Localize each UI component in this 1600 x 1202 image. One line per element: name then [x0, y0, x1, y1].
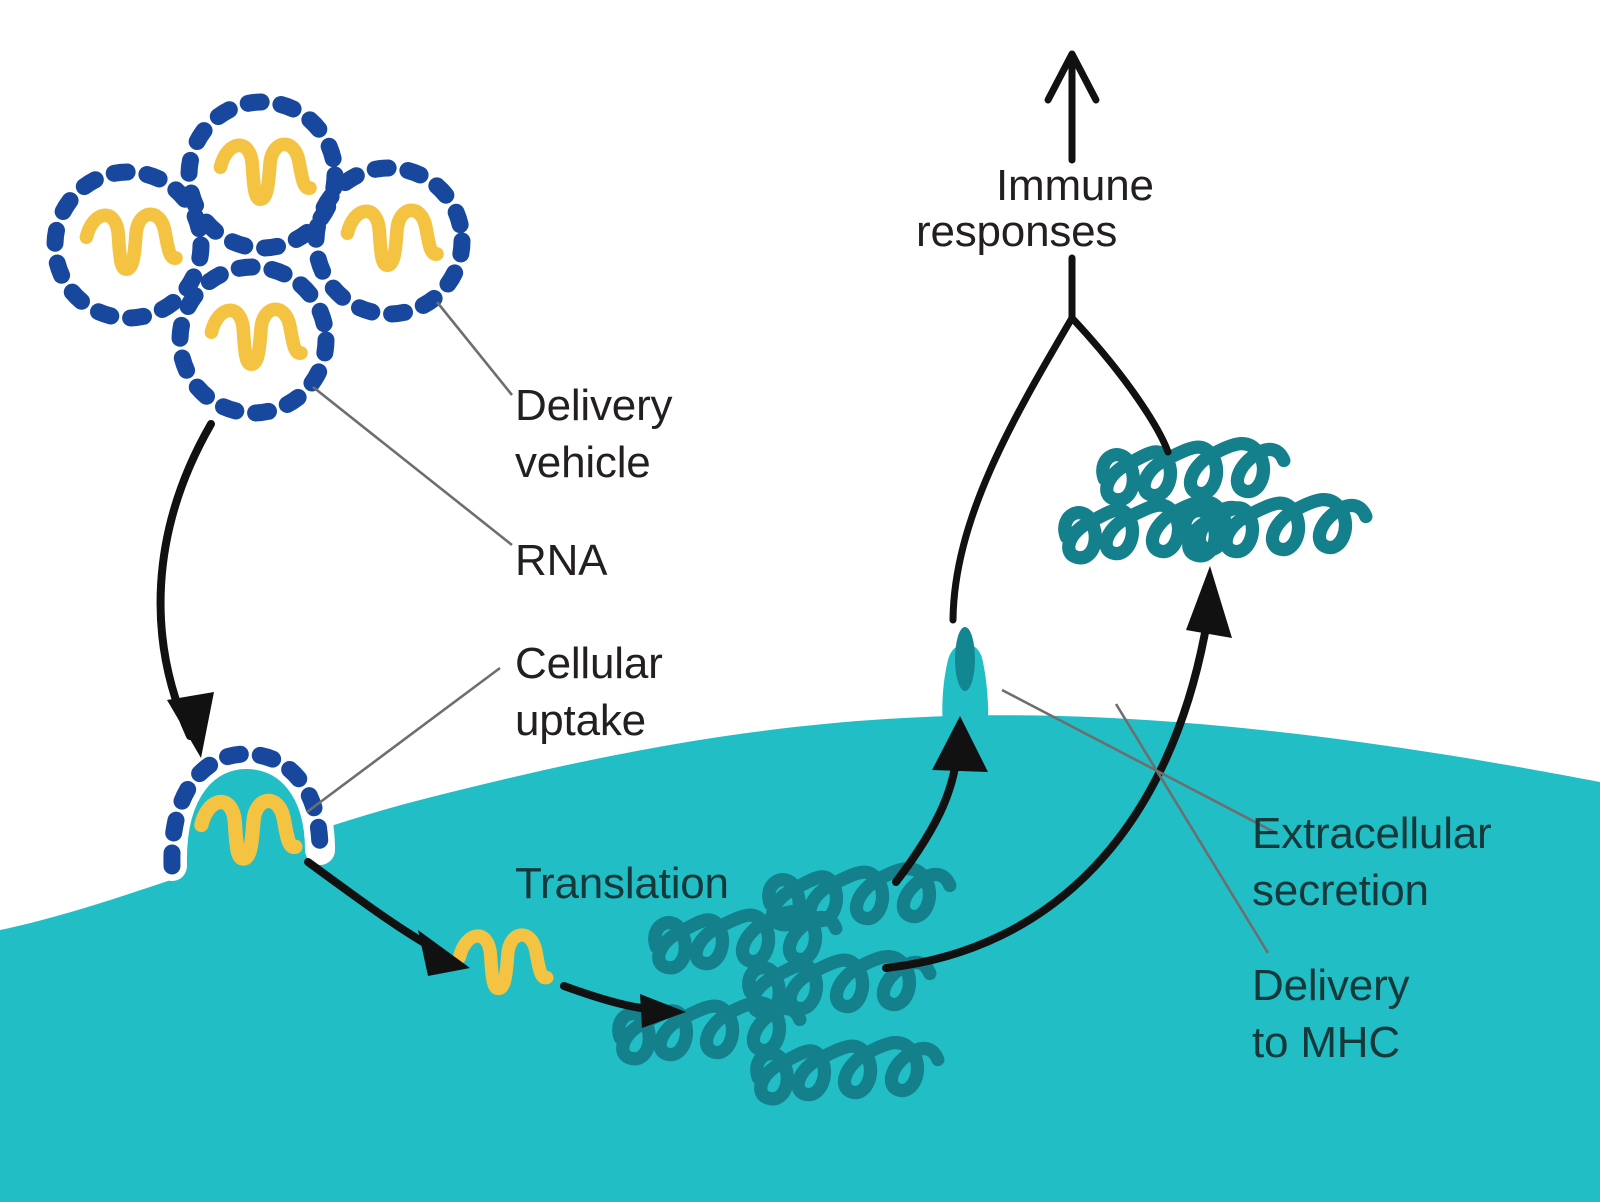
label-delivery-to-mhc-line1: Delivery [1252, 961, 1410, 1010]
delivery-vehicle-cluster [55, 102, 462, 413]
immune-response-converging-lines [953, 258, 1168, 620]
label-cellular-uptake-line2: uptake [515, 696, 646, 745]
leader-delivery-vehicle [437, 302, 512, 395]
label-immune-responses-line2: responses [916, 207, 1117, 256]
extracellular-protein-cluster [1065, 444, 1366, 558]
delivery-vehicle [180, 267, 326, 413]
arrow-immune-responses [1048, 54, 1096, 160]
label-immune-responses-line1: Immune [996, 161, 1154, 210]
figure-canvas: Delivery vehicle RNA Cellular uptake Tra… [0, 0, 1600, 1202]
pathway-diagram: Delivery vehicle RNA Cellular uptake Tra… [0, 0, 1600, 1202]
delivery-vehicle [55, 172, 201, 318]
label-rna: RNA [515, 536, 608, 585]
label-translation: Translation [515, 859, 729, 908]
label-cellular-uptake-line1: Cellular [515, 639, 663, 688]
label-delivery-vehicle-line1: Delivery [515, 381, 673, 430]
mhc-cap [955, 627, 975, 691]
leader-rna [313, 387, 512, 545]
label-extracellular-secretion-line1: Extracellular [1252, 809, 1492, 858]
label-delivery-to-mhc-line2: to MHC [1252, 1018, 1400, 1067]
label-delivery-vehicle-line2: vehicle [515, 438, 651, 487]
label-extracellular-secretion-line2: secretion [1252, 866, 1429, 915]
arrow-uptake [161, 424, 211, 736]
